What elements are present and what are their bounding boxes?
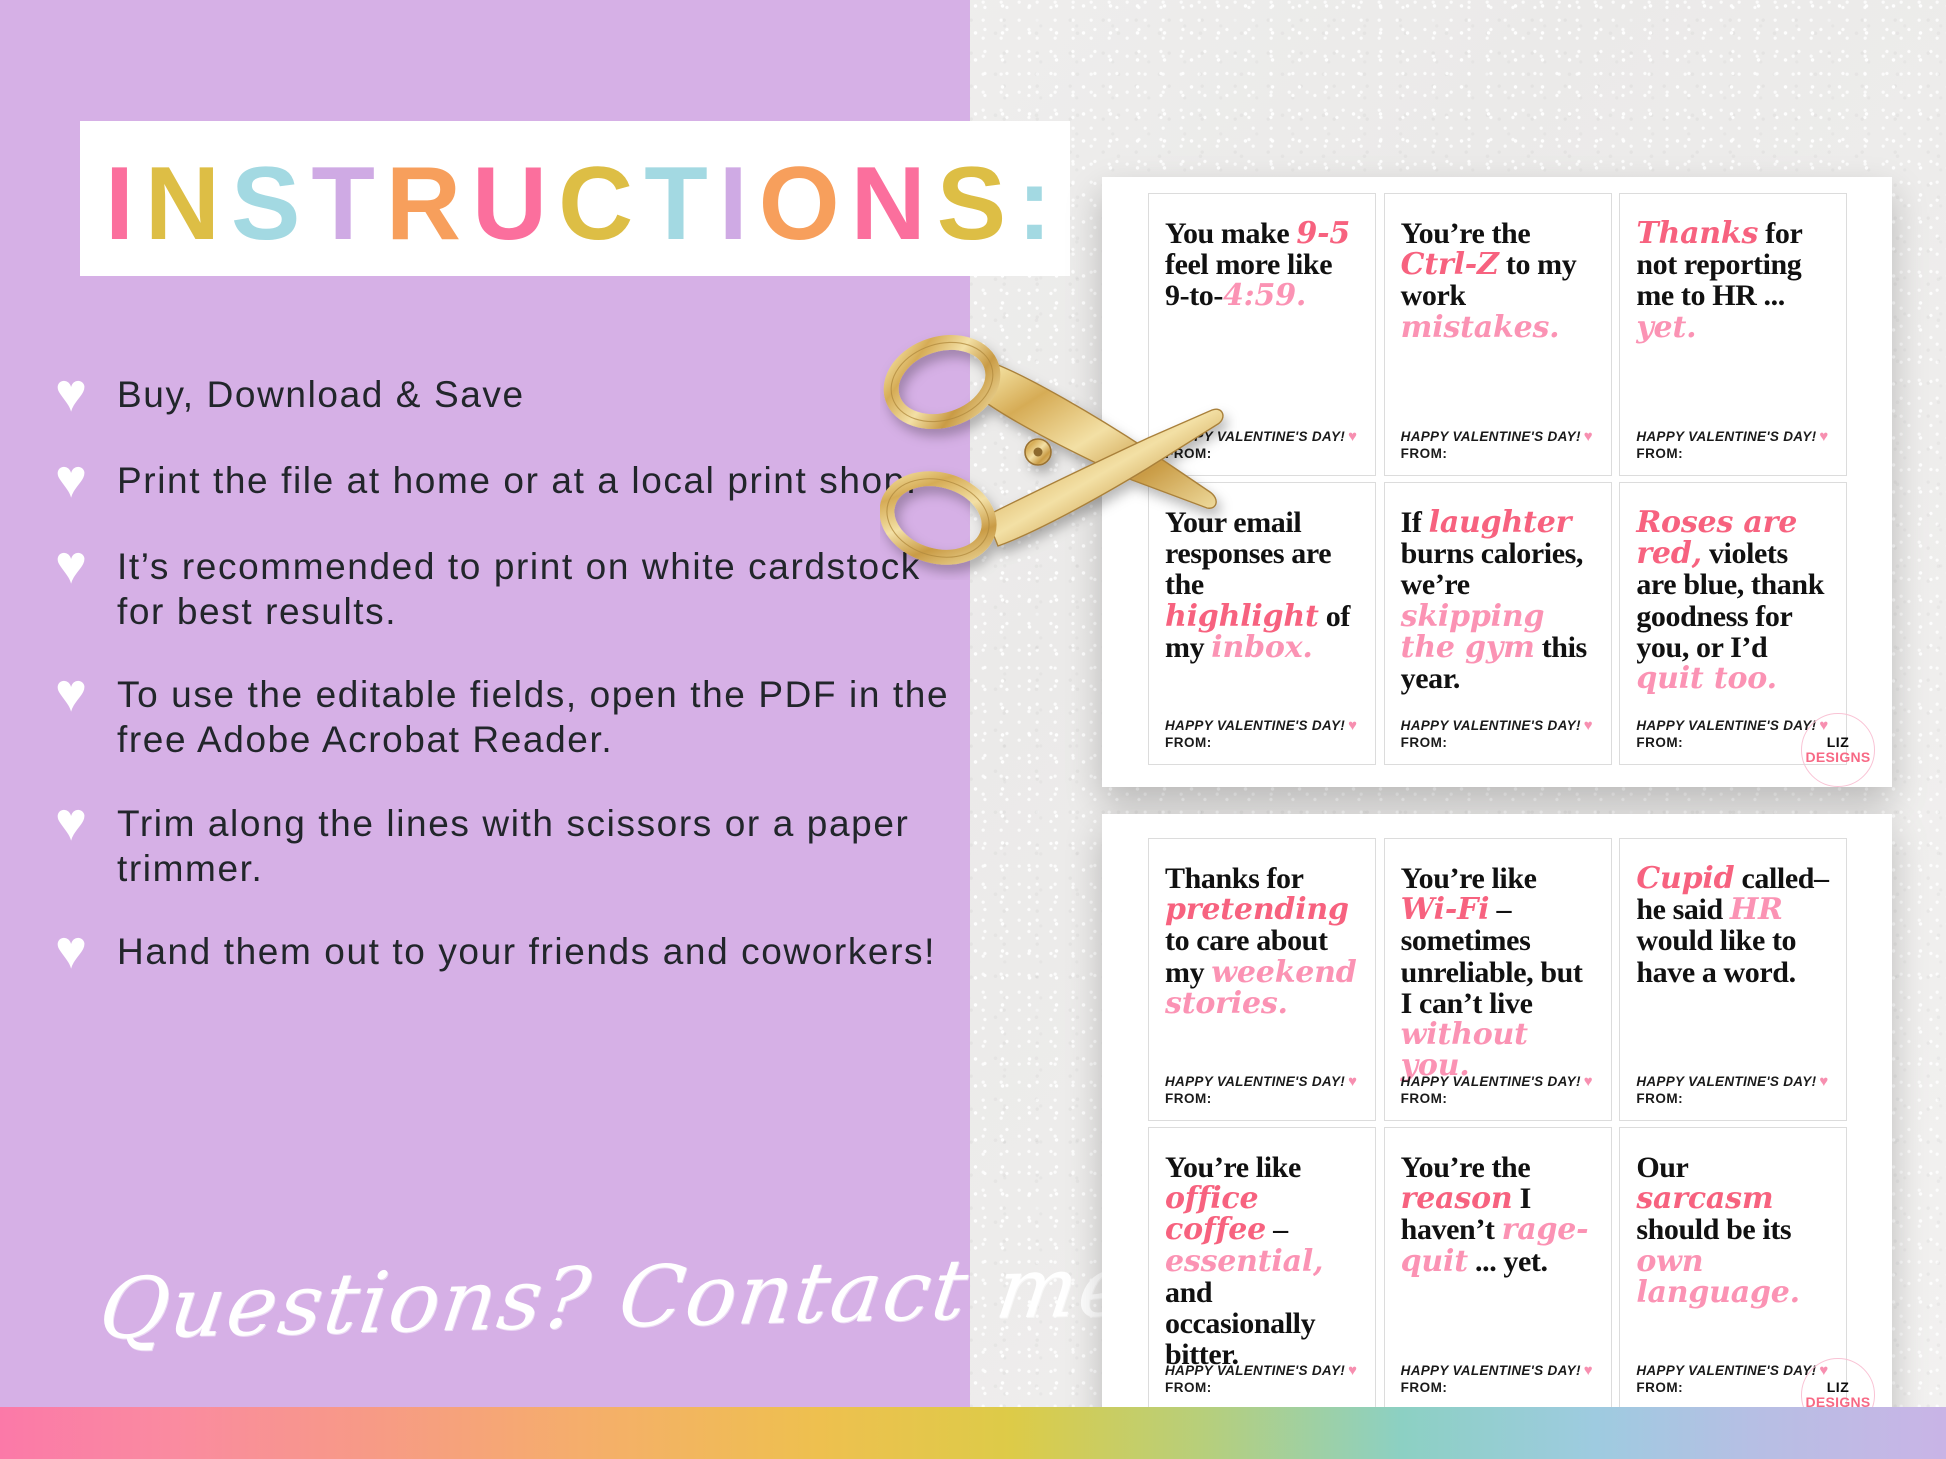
- card-greeting: HAPPY VALENTINE'S DAY!♥: [1636, 1073, 1828, 1090]
- card-footer: HAPPY VALENTINE'S DAY!♥FROM:: [1401, 1073, 1593, 1106]
- card-ragequit[interactable]: You’re the reason I haven’t rage-quit ..…: [1384, 1127, 1612, 1410]
- stamp-line-2: DESIGNS: [1805, 750, 1870, 765]
- card-text-accent: inbox.: [1211, 630, 1312, 665]
- stamp-line-1: LIZ: [1827, 735, 1850, 750]
- card-from-field[interactable]: FROM:: [1401, 446, 1593, 461]
- card-text-accent: yet.: [1636, 310, 1696, 345]
- card-text-main: You’re the: [1401, 217, 1531, 250]
- card-text-main: and occasionally bitter.: [1165, 1276, 1315, 1371]
- card-message: You make 9-5 feel more like 9-to-4:59.: [1165, 218, 1359, 312]
- card-footer: HAPPY VALENTINE'S DAY!♥FROM:: [1165, 1073, 1357, 1106]
- heart-icon: ♥: [55, 452, 117, 506]
- card-greeting: HAPPY VALENTINE'S DAY!♥: [1401, 717, 1593, 734]
- card-text-accent: Ctrl-Z: [1401, 247, 1499, 282]
- title-letter-7: T: [644, 146, 719, 262]
- card-hr[interactable]: Thanks for not reporting me to HR ... ye…: [1619, 193, 1847, 476]
- card-greeting: HAPPY VALENTINE'S DAY!♥: [1636, 428, 1828, 445]
- heart-icon: ♥: [1819, 428, 1828, 445]
- card-from-field[interactable]: FROM:: [1636, 1380, 1828, 1395]
- card-message: Our sarcasm should be its own language.: [1636, 1152, 1830, 1308]
- instruction-item-2: ♥Print the file at home or at a local pr…: [55, 454, 955, 506]
- card-text-accent: 4:59.: [1223, 278, 1306, 313]
- title-letter-2: S: [231, 146, 311, 262]
- heart-icon: ♥: [1584, 428, 1593, 445]
- card-text-accent: Wi-Fi: [1401, 892, 1490, 927]
- card-text-accent: mistakes.: [1401, 310, 1560, 345]
- card-from-field[interactable]: FROM:: [1401, 1380, 1593, 1395]
- card-text-accent: own language.: [1636, 1244, 1800, 1310]
- title-letter-6: C: [558, 146, 644, 262]
- heart-icon: ♥: [1348, 1362, 1357, 1379]
- title-letter-12: :: [1017, 146, 1063, 262]
- card-footer: HAPPY VALENTINE'S DAY!♥FROM:: [1636, 428, 1828, 461]
- card-footer: HAPPY VALENTINE'S DAY!♥FROM:: [1165, 717, 1357, 750]
- card-footer: HAPPY VALENTINE'S DAY!♥FROM:: [1401, 428, 1593, 461]
- instruction-text: Trim along the lines with scissors or a …: [117, 797, 955, 891]
- title-letter-1: N: [145, 146, 231, 262]
- card-text-accent: laughter: [1429, 505, 1572, 540]
- heart-icon: ♥: [1584, 717, 1593, 734]
- card-cupid[interactable]: Cupid called–he said HR would like to ha…: [1619, 838, 1847, 1121]
- card-footer: HAPPY VALENTINE'S DAY!♥FROM:: [1636, 1362, 1828, 1395]
- instruction-item-5: ♥Trim along the lines with scissors or a…: [55, 797, 955, 891]
- card-message: Thanks for pretending to care about my w…: [1165, 863, 1359, 1019]
- card-text-main: You’re like: [1165, 1151, 1301, 1184]
- card-text-accent: essential,: [1165, 1244, 1323, 1279]
- card-greeting: HAPPY VALENTINE'S DAY!♥: [1165, 1362, 1357, 1379]
- card-greeting: HAPPY VALENTINE'S DAY!♥: [1401, 1073, 1593, 1090]
- card-greeting: HAPPY VALENTINE'S DAY!♥: [1401, 428, 1593, 445]
- card-text-main: You’re the: [1401, 1151, 1531, 1184]
- title-letter-5: U: [472, 146, 558, 262]
- page-title: INSTRUCTIONS:: [105, 152, 1063, 256]
- title-letter-3: T: [311, 146, 386, 262]
- card-text-accent: reason: [1401, 1181, 1513, 1216]
- card-from-field[interactable]: FROM:: [1165, 1091, 1357, 1106]
- card-text-main: ... yet.: [1468, 1245, 1548, 1278]
- card-message: You’re the reason I haven’t rage-quit ..…: [1401, 1152, 1595, 1277]
- title-letter-9: O: [759, 146, 851, 262]
- card-text-main: You’re like: [1401, 862, 1537, 895]
- card-footer: HAPPY VALENTINE'S DAY!♥FROM:: [1165, 1362, 1357, 1395]
- card-text-accent: highlight: [1165, 599, 1319, 634]
- card-text-accent: pretending: [1165, 892, 1349, 927]
- poster-canvas: INSTRUCTIONS: ♥Buy, Download & Save♥Prin…: [0, 0, 1946, 1459]
- stamp-line-1: LIZ: [1827, 1380, 1850, 1395]
- instruction-text: It’s recommended to print on white cards…: [117, 540, 955, 634]
- card-text-main: burns calories, we’re: [1401, 537, 1583, 601]
- card-ctrlz[interactable]: You’re the Ctrl-Z to my work mistakes.HA…: [1384, 193, 1612, 476]
- heart-icon: ♥: [1348, 717, 1357, 734]
- heart-icon: ♥: [55, 366, 117, 420]
- card-text-main: You make: [1165, 217, 1296, 250]
- card-footer: HAPPY VALENTINE'S DAY!♥FROM:: [1401, 717, 1593, 750]
- card-grid-bottom: Thanks for pretending to care about my w…: [1148, 838, 1848, 1410]
- heart-icon: ♥: [1348, 428, 1357, 445]
- card-message: Cupid called–he said HR would like to ha…: [1636, 863, 1830, 988]
- card-greeting: HAPPY VALENTINE'S DAY!♥: [1636, 717, 1828, 734]
- card-message: Roses are red, violets are blue, thank g…: [1636, 507, 1830, 694]
- instruction-item-1: ♥Buy, Download & Save: [55, 368, 955, 420]
- card-from-field[interactable]: FROM:: [1401, 1091, 1593, 1106]
- card-text-accent: skipping the gym: [1401, 599, 1545, 665]
- card-message: You’re like Wi-Fi – sometimes unreliable…: [1401, 863, 1595, 1081]
- card-from-field[interactable]: FROM:: [1636, 735, 1828, 750]
- card-text-main: Our: [1636, 1151, 1688, 1184]
- instruction-text: Buy, Download & Save: [117, 368, 955, 417]
- card-text-main: would like to have a word.: [1636, 924, 1796, 988]
- instruction-item-4: ♥To use the editable fields, open the PD…: [55, 668, 955, 762]
- card-text-accent: office coffee: [1165, 1181, 1266, 1247]
- card-from-field[interactable]: FROM:: [1636, 1091, 1828, 1106]
- instruction-item-3: ♥It’s recommended to print on white card…: [55, 540, 955, 634]
- heart-icon: ♥: [1584, 1073, 1593, 1090]
- card-laughter[interactable]: If laughter burns calories, we’re skippi…: [1384, 482, 1612, 765]
- card-from-field[interactable]: FROM:: [1165, 735, 1357, 750]
- card-wifi[interactable]: You’re like Wi-Fi – sometimes unreliable…: [1384, 838, 1612, 1121]
- heart-icon: ♥: [1584, 1362, 1593, 1379]
- card-text-accent: 9-5: [1296, 216, 1350, 251]
- card-greeting: HAPPY VALENTINE'S DAY!♥: [1165, 717, 1357, 734]
- card-footer: HAPPY VALENTINE'S DAY!♥FROM:: [1636, 1073, 1828, 1106]
- card-text-main: If: [1401, 506, 1429, 539]
- card-text-accent: HR: [1730, 892, 1783, 927]
- rainbow-footer-bar: [0, 1407, 1946, 1459]
- title-letter-4: R: [386, 146, 472, 262]
- title-letter-0: I: [105, 146, 145, 262]
- card-message: You’re the Ctrl-Z to my work mistakes.: [1401, 218, 1595, 343]
- instruction-text: Hand them out to your friends and cowork…: [117, 925, 955, 974]
- liz-designs-stamp: LIZ DESIGNS: [1801, 713, 1875, 787]
- card-text-accent: sarcasm: [1636, 1181, 1773, 1216]
- card-text-accent: Thanks: [1636, 216, 1758, 251]
- card-text-accent: Cupid: [1636, 861, 1734, 896]
- instruction-item-6: ♥Hand them out to your friends and cowor…: [55, 925, 955, 977]
- card-footer: HAPPY VALENTINE'S DAY!♥FROM:: [1401, 1362, 1593, 1395]
- card-pretending[interactable]: Thanks for pretending to care about my w…: [1148, 838, 1376, 1121]
- gold-scissors-icon: [880, 330, 1300, 580]
- instructions-list: ♥Buy, Download & Save♥Print the file at …: [55, 368, 955, 1011]
- title-letter-11: S: [937, 146, 1017, 262]
- card-coffee[interactable]: You’re like office coffee – essential, a…: [1148, 1127, 1376, 1410]
- card-greeting: HAPPY VALENTINE'S DAY!♥: [1401, 1362, 1593, 1379]
- card-text-main: should be its: [1636, 1213, 1791, 1246]
- card-message: Thanks for not reporting me to HR ... ye…: [1636, 218, 1830, 343]
- card-text-accent: quit too.: [1636, 661, 1776, 696]
- card-text-main: Thanks for: [1165, 862, 1303, 895]
- heart-icon: ♥: [1819, 1073, 1828, 1090]
- title-letter-8: I: [719, 146, 759, 262]
- heart-icon: ♥: [55, 666, 117, 720]
- card-message: If laughter burns calories, we’re skippi…: [1401, 507, 1595, 694]
- card-from-field[interactable]: FROM:: [1165, 1380, 1357, 1395]
- card-footer: HAPPY VALENTINE'S DAY!♥FROM:: [1636, 717, 1828, 750]
- heart-icon: ♥: [55, 795, 117, 849]
- instruction-text: To use the editable fields, open the PDF…: [117, 668, 955, 762]
- card-greeting: HAPPY VALENTINE'S DAY!♥: [1165, 1073, 1357, 1090]
- instruction-text: Print the file at home or at a local pri…: [117, 454, 955, 503]
- heart-icon: ♥: [55, 923, 117, 977]
- card-text-main: –: [1266, 1213, 1288, 1246]
- card-greeting: HAPPY VALENTINE'S DAY!♥: [1636, 1362, 1828, 1379]
- card-message: You’re like office coffee – essential, a…: [1165, 1152, 1359, 1370]
- heart-icon: ♥: [55, 538, 117, 592]
- heart-icon: ♥: [1348, 1073, 1357, 1090]
- card-from-field[interactable]: FROM:: [1401, 735, 1593, 750]
- printable-sheet-bottom: Thanks for pretending to care about my w…: [1102, 814, 1892, 1444]
- card-from-field[interactable]: FROM:: [1636, 446, 1828, 461]
- title-letter-10: N: [851, 146, 937, 262]
